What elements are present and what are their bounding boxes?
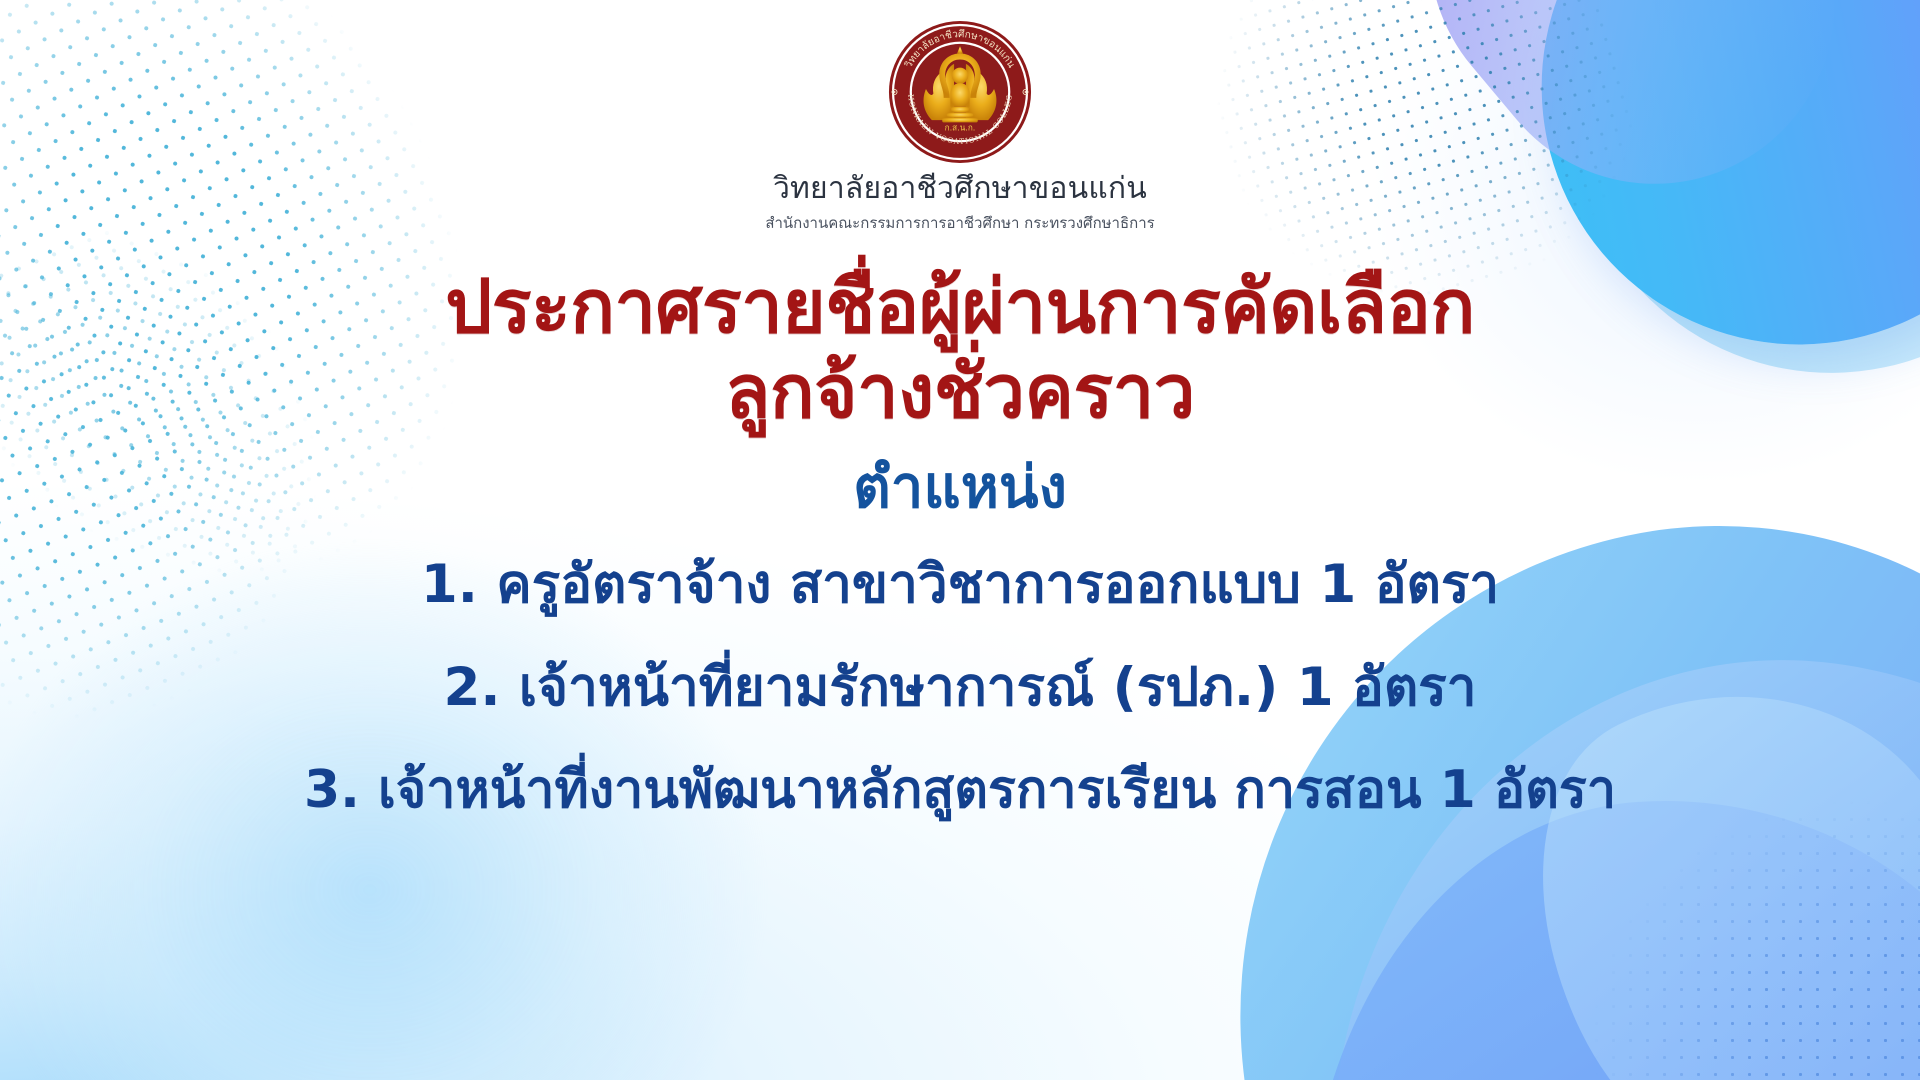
college-seal-logo: วิทยาลัยอาชีวศึกษาขอนแก่น KHONKAEN VOCAT… [886,18,1034,166]
position-list-item: 2. เจ้าหน้าที่ยามรักษาการณ์ (รปภ.) 1 อัต… [443,659,1476,716]
announcement-poster: วิทยาลัยอาชีวศึกษาขอนแก่น KHONKAEN VOCAT… [0,0,1920,1080]
position-list-item: 1. ครูอัตราจ้าง สาขาวิชาการออกแบบ 1 อัตร… [421,556,1499,613]
poster-content: วิทยาลัยอาชีวศึกษาขอนแก่น KHONKAEN VOCAT… [0,0,1920,1080]
announcement-headline-line1: ประกาศรายชื่อผู้ผ่านการคัดเลือก [445,266,1475,349]
position-list: 1. ครูอัตราจ้าง สาขาวิชาการออกแบบ 1 อัตร… [0,556,1920,819]
position-section-heading: ตำแหน่ง [853,456,1067,520]
organization-name: วิทยาลัยอาชีวศึกษาขอนแก่น [773,172,1147,205]
announcement-headline-line2: ลูกจ้างชั่วคราว [725,351,1195,434]
ministry-line: สำนักงานคณะกรรมการการอาชีวศึกษา กระทรวงศ… [765,214,1154,232]
svg-text:ก.ส.น.ก.: ก.ส.น.ก. [945,122,976,132]
position-list-item: 3. เจ้าหน้าที่งานพัฒนาหลักสูตรการเรียน ก… [304,762,1616,818]
